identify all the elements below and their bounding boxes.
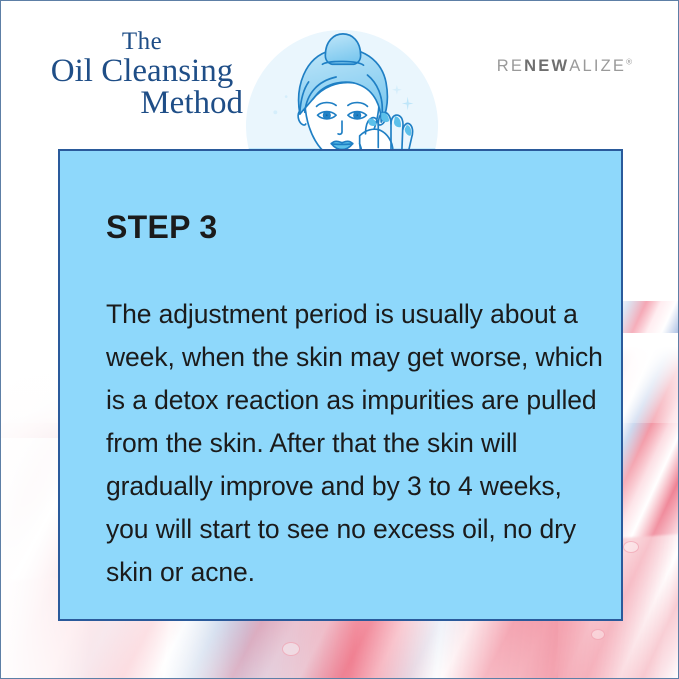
logo-part-alize: ALIZE bbox=[569, 57, 626, 75]
renewalize-logo: RENEWALIZE® bbox=[497, 57, 632, 76]
step-content-panel: STEP 3 The adjustment period is usually … bbox=[58, 149, 623, 621]
brand-title-the: The bbox=[37, 29, 247, 54]
brand-title-oil-cleansing: Oil Cleansing bbox=[37, 55, 247, 88]
marble-bubble-dot bbox=[591, 629, 605, 640]
marble-bubble-dot bbox=[282, 642, 300, 656]
poster-canvas: The Oil Cleansing Method RENEWALIZE® bbox=[0, 0, 679, 679]
marble-bubble-dot bbox=[623, 541, 639, 553]
brand-title: The Oil Cleansing Method bbox=[37, 29, 247, 120]
brand-title-method: Method bbox=[37, 87, 247, 120]
registered-trademark-icon: ® bbox=[626, 58, 632, 67]
logo-part-new: NEW bbox=[524, 57, 569, 75]
step-title: STEP 3 bbox=[106, 209, 218, 246]
step-body-text: The adjustment period is usually about a… bbox=[106, 293, 606, 594]
logo-part-re: RE bbox=[497, 57, 524, 75]
